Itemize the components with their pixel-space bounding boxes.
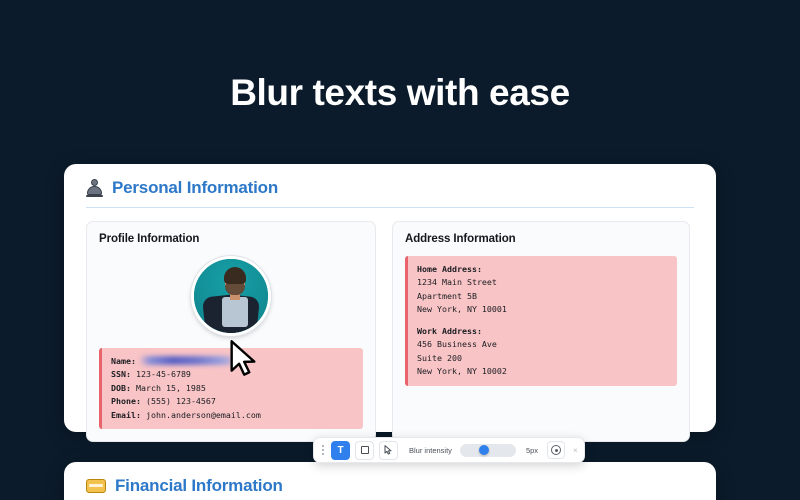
screenshot-stage: Blur texts with ease Personal Informatio… — [0, 0, 800, 500]
field-dob: DOB: March 15, 1985 — [111, 382, 354, 395]
slider-knob[interactable] — [479, 445, 489, 455]
blur-intensity-value: 5px — [526, 446, 538, 455]
field-dob-value: March 15, 1985 — [136, 383, 206, 393]
financial-section-title: Financial Information — [115, 476, 283, 496]
address-information-panel: Address Information Home Address: 1234 M… — [392, 221, 690, 442]
field-email: Email: john.anderson@email.com — [111, 409, 354, 422]
credit-card-icon — [86, 479, 106, 493]
address-spacer — [417, 317, 668, 325]
blur-intensity-label: Blur intensity — [409, 446, 452, 455]
profile-information-panel: Profile Information Na — [86, 221, 376, 442]
personal-information-card: Personal Information Profile Information — [64, 164, 716, 432]
cursor-arrow-icon — [384, 445, 393, 455]
field-ssn-label: SSN: — [111, 369, 131, 379]
field-phone-label: Phone: — [111, 396, 141, 406]
address-fields-redacted-block[interactable]: Home Address: 1234 Main Street Apartment… — [405, 256, 677, 386]
field-dob-label: DOB: — [111, 383, 131, 393]
work-address-line1: 456 Business Ave — [417, 338, 668, 351]
square-icon — [361, 446, 369, 454]
home-address-label: Home Address: — [417, 263, 668, 276]
financial-section-header: Financial Information — [64, 462, 716, 496]
personal-panels: Profile Information Na — [64, 208, 716, 442]
financial-information-card: Financial Information — [64, 462, 716, 500]
select-tool-button[interactable] — [379, 441, 398, 460]
profile-panel-title: Profile Information — [99, 233, 363, 245]
avatar-wrapper — [99, 256, 363, 336]
target-button[interactable] — [547, 441, 565, 459]
blur-intensity-slider[interactable] — [460, 444, 516, 457]
home-address-line1: 1234 Main Street — [417, 276, 668, 289]
personal-section-header: Personal Information — [64, 164, 716, 198]
mouse-cursor-icon — [228, 340, 262, 380]
page-headline: Blur texts with ease — [0, 72, 800, 114]
personal-section-title: Personal Information — [112, 178, 278, 198]
rectangle-tool-button[interactable] — [355, 441, 374, 460]
text-tool-button[interactable]: T — [331, 441, 350, 460]
toolbar-close-button[interactable]: × — [573, 446, 578, 455]
field-email-value: john.anderson@email.com — [146, 410, 261, 420]
field-name-label: Name: — [111, 356, 136, 366]
home-address-line2: Apartment 5B — [417, 290, 668, 303]
field-email-label: Email: — [111, 410, 141, 420]
work-address-label: Work Address: — [417, 325, 668, 338]
work-address-line2: Suite 200 — [417, 352, 668, 365]
toolbar-drag-handle[interactable] — [320, 443, 326, 457]
field-phone-value: (555) 123-4567 — [146, 396, 216, 406]
field-phone: Phone: (555) 123-4567 — [111, 395, 354, 408]
work-address-line3: New York, NY 10002 — [417, 365, 668, 378]
avatar — [191, 256, 271, 336]
home-address-line3: New York, NY 10001 — [417, 303, 668, 316]
address-panel-title: Address Information — [405, 233, 677, 245]
target-icon — [551, 445, 561, 455]
field-ssn-value: 123-45-6789 — [136, 369, 191, 379]
person-bust-icon — [86, 179, 103, 197]
blur-toolbar[interactable]: T Blur intensity 5px × — [313, 437, 585, 463]
